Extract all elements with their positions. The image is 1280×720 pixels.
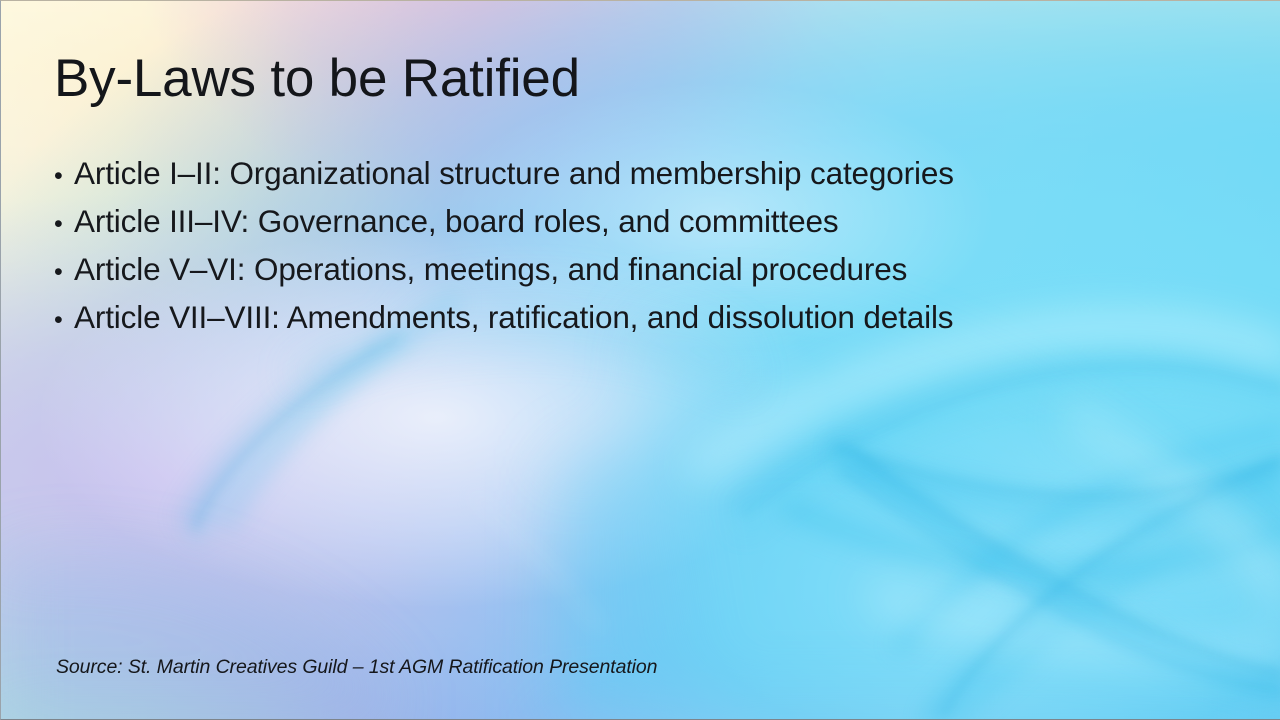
- bullet-point-icon: •: [54, 308, 74, 333]
- list-item-label: Article VII–VIII: Amendments, ratificati…: [74, 299, 953, 336]
- list-item-label: Article III–IV: Governance, board roles,…: [74, 203, 838, 240]
- list-item: • Article I–II: Organizational structure…: [54, 155, 1204, 203]
- bullet-point-icon: •: [54, 164, 74, 189]
- list-item: • Article III–IV: Governance, board role…: [54, 203, 1204, 251]
- list-item: • Article VII–VIII: Amendments, ratifica…: [54, 299, 1204, 347]
- source-citation: Source: St. Martin Creatives Guild – 1st…: [56, 656, 657, 679]
- slide-canvas: By-Laws to be Ratified • Article I–II: O…: [0, 0, 1280, 720]
- slide-content: By-Laws to be Ratified • Article I–II: O…: [1, 1, 1280, 719]
- list-item-label: Article I–II: Organizational structure a…: [74, 155, 954, 192]
- list-item-label: Article V–VI: Operations, meetings, and …: [74, 251, 907, 288]
- bullet-point-icon: •: [54, 260, 74, 285]
- bullet-point-icon: •: [54, 212, 74, 237]
- list-item: • Article V–VI: Operations, meetings, an…: [54, 251, 1204, 299]
- page-title: By-Laws to be Ratified: [54, 51, 1154, 107]
- bullet-list: • Article I–II: Organizational structure…: [54, 155, 1204, 347]
